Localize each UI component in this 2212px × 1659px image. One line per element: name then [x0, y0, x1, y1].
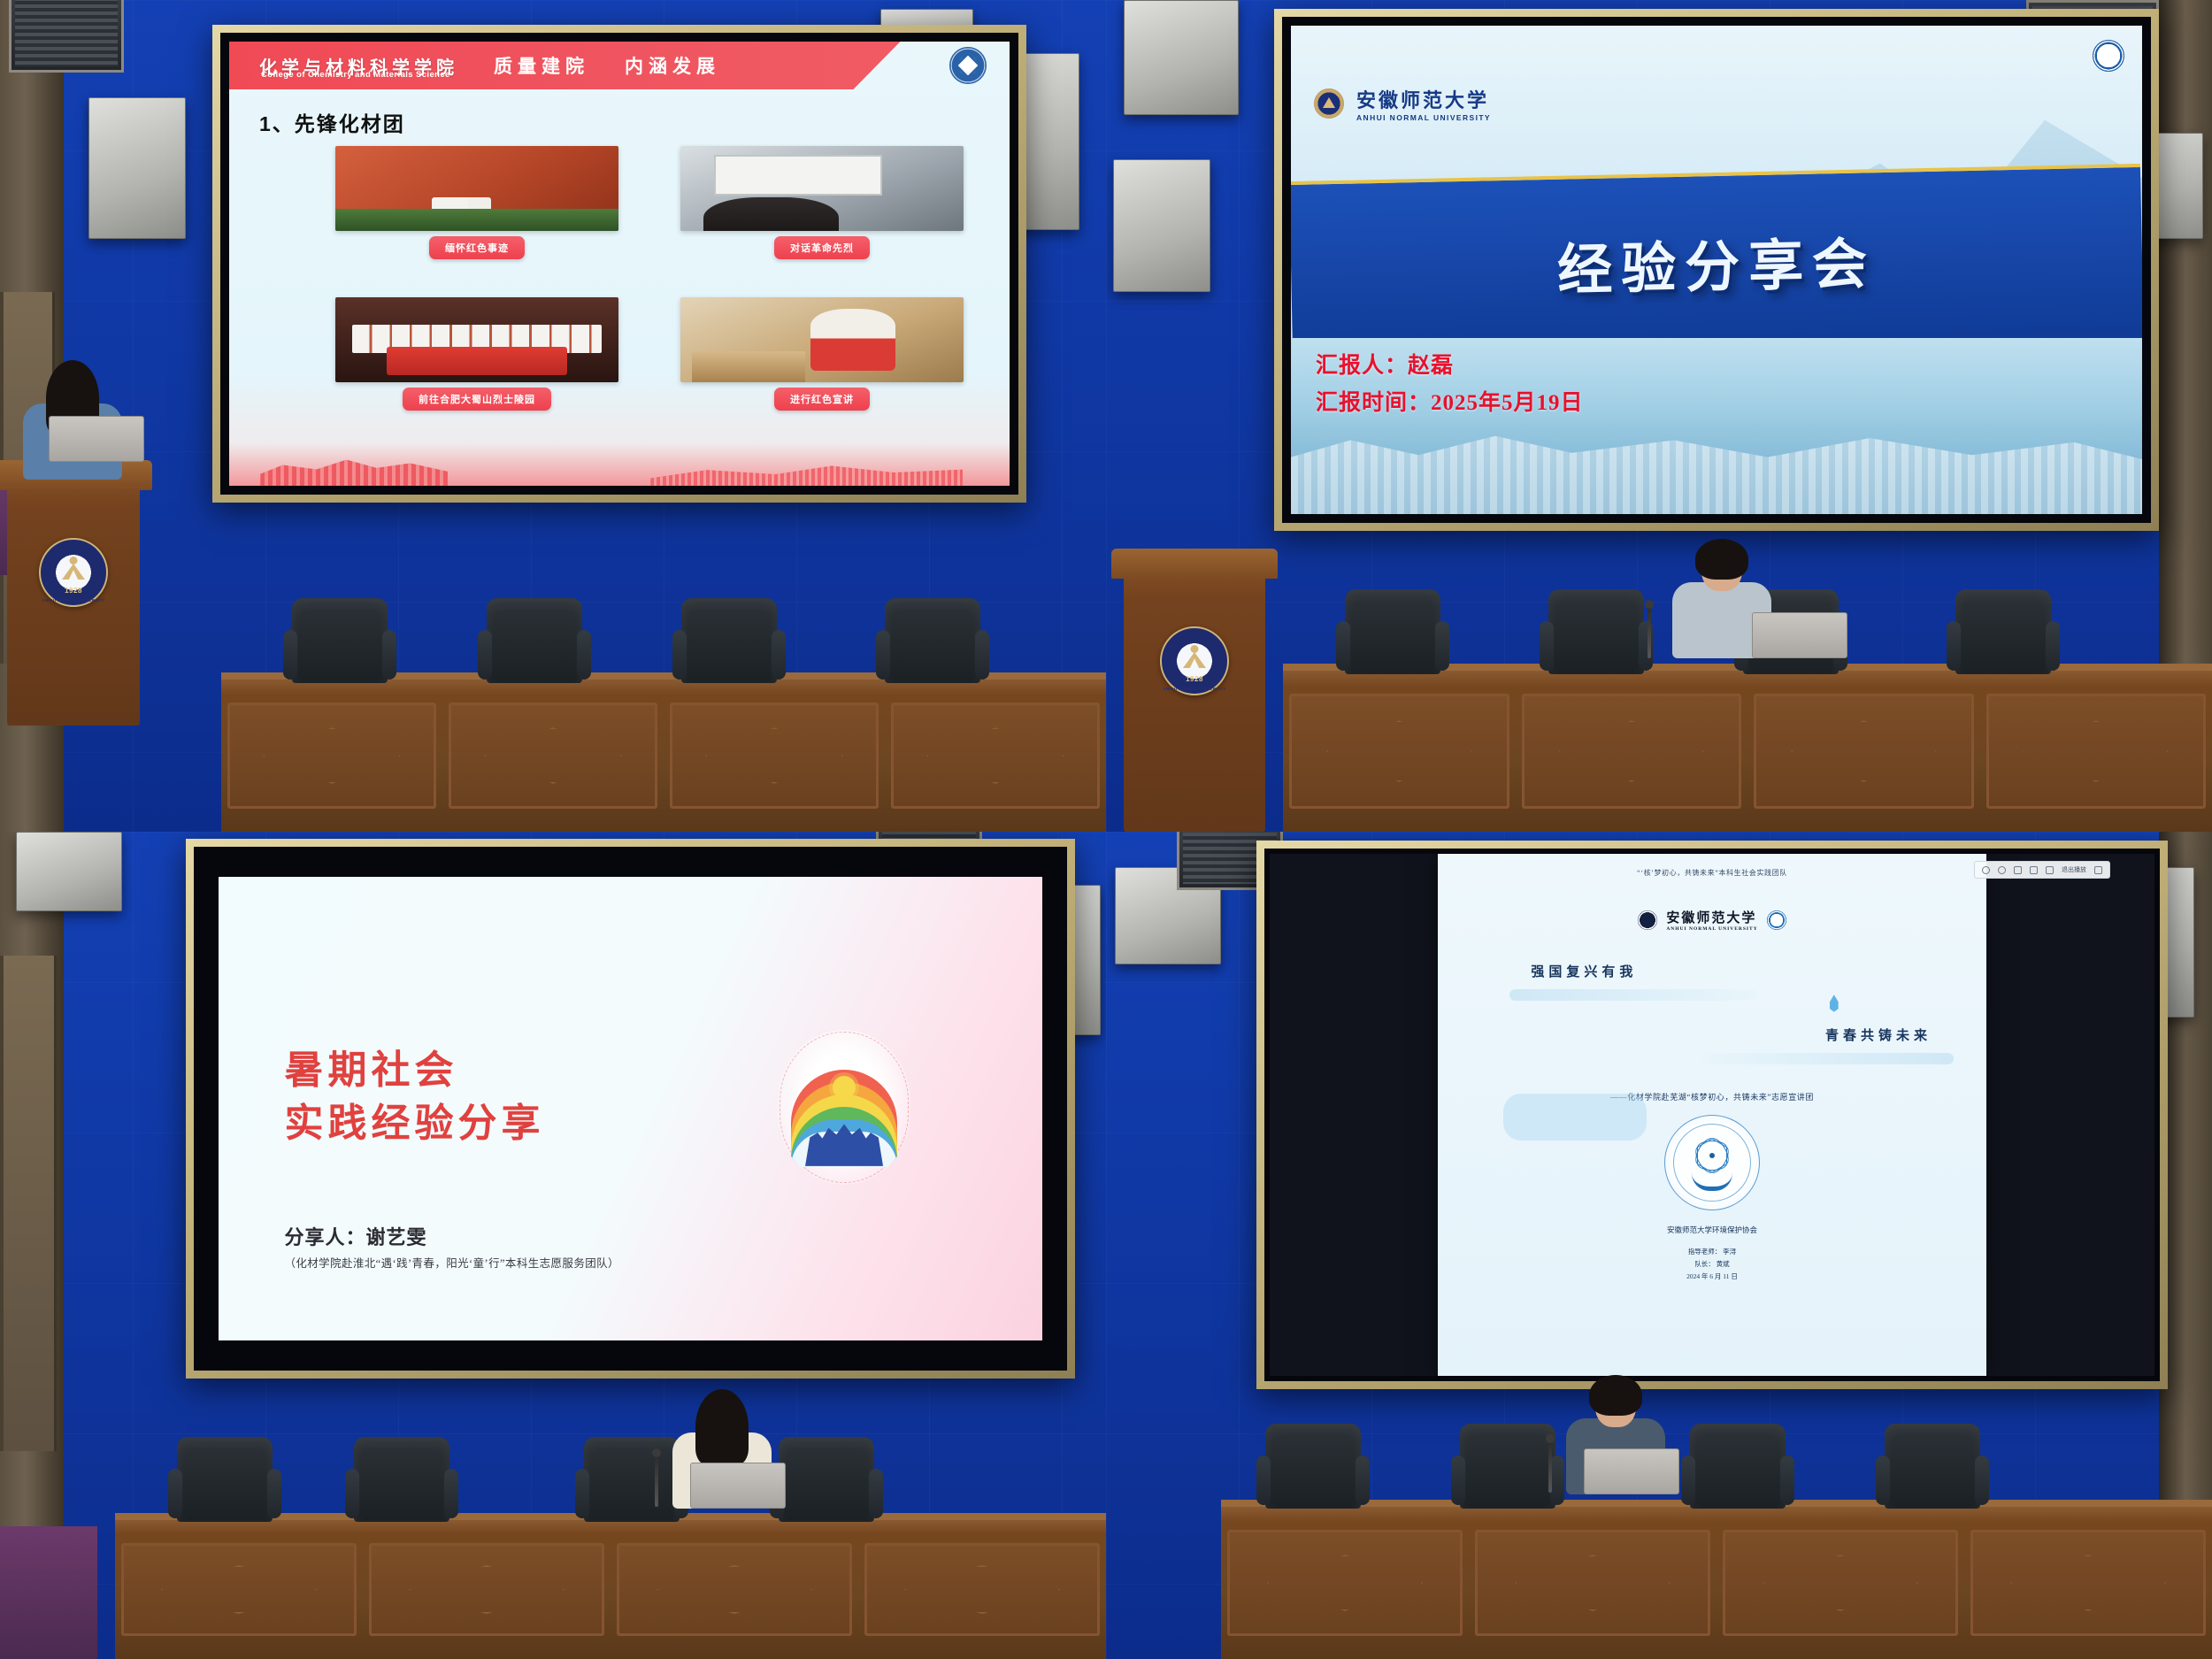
zoom-in-icon[interactable]	[1982, 866, 1990, 874]
rainbow-children-emblem-icon	[778, 1030, 910, 1185]
crest-figure-icon	[1181, 645, 1208, 672]
table-panel	[121, 1543, 357, 1636]
pdf-viewer-toolbar[interactable]: 退出播放	[1974, 861, 2110, 879]
presenter-laptop	[1752, 612, 1847, 658]
conference-table	[1221, 1500, 2212, 1659]
conference-chair	[354, 1437, 449, 1522]
slide3-title-line2: 实践经验分享	[284, 1097, 544, 1151]
table-panel	[1475, 1530, 1710, 1636]
rocket-icon	[1824, 995, 1844, 1014]
slide-4: 退出播放 “‘核’梦初心，共铸未来”本科生社会实践团队 安徽师范大学 ANHUI…	[1270, 854, 2154, 1376]
panel-bottom-right: 退出播放 “‘核’梦初心，共铸未来”本科生社会实践团队 安徽师范大学 ANHUI…	[1106, 832, 2212, 1659]
slide2-university-en: ANHUI NORMAL UNIVERSITY	[1356, 113, 1491, 122]
projection-screen-3: 暑期社会 实践经验分享 分享人：谢艺雯 （化材学院赴淮北“遇‘践’青春，阳光‘童…	[186, 839, 1075, 1379]
conference-chair	[177, 1437, 273, 1522]
presenter-laptop	[49, 416, 144, 462]
college-seal-icon	[2093, 40, 2124, 72]
table-panel	[1227, 1530, 1463, 1636]
university-crest: 1928 ANHUI NORMAL UNIVERSITY	[39, 538, 108, 607]
conference-chair	[1345, 589, 1440, 674]
pdf-team-leader: 队长： 黄斌	[1438, 1258, 1986, 1271]
table-microphone	[1548, 1440, 1552, 1493]
sun-icon	[833, 1076, 856, 1099]
zoom-out-icon[interactable]	[1998, 866, 2006, 874]
fit-page-icon[interactable]	[2014, 866, 2022, 874]
table-panel	[1970, 1530, 2206, 1636]
screen-bezel: 退出播放 “‘核’梦初心，共铸未来”本科生社会实践团队 安徽师范大学 ANHUI…	[1264, 849, 2160, 1381]
close-icon[interactable]	[2094, 866, 2102, 874]
slide1-title: 1、先锋化材团	[259, 107, 405, 137]
red-monument-memorial-photo	[335, 146, 618, 231]
slide3-subtitle: 分享人：谢艺雯 （化材学院赴淮北“遇‘践’青春，阳光‘童’行”本科生志愿服务团队…	[284, 1222, 618, 1271]
wall-speaker-2	[1113, 159, 1210, 292]
pdf-header-text: “‘核’梦初心，共铸未来”本科生社会实践团队	[1438, 868, 1986, 878]
atom-environment-seal-icon	[1664, 1115, 1760, 1210]
slide1-cell: 缅怀红色事迹	[335, 146, 618, 285]
slide1-cell: 前往合肥大蜀山烈士陵园	[335, 297, 618, 436]
table-panel	[369, 1543, 604, 1636]
presenter-laptop	[690, 1463, 786, 1509]
table-panel	[1723, 1530, 1958, 1636]
slide-3: 暑期社会 实践经验分享 分享人：谢艺雯 （化材学院赴淮北“遇‘践’青春，阳光‘童…	[219, 877, 1042, 1340]
slide1-slogan-right: 内涵发展	[625, 52, 720, 79]
crest-ring-text: ANHUI NORMAL UNIVERSITY	[42, 598, 105, 603]
table-panel	[1754, 694, 1974, 809]
table-panel	[1289, 694, 1509, 809]
slide3-title-line1: 暑期社会	[284, 1044, 544, 1098]
crest-figure-icon	[60, 557, 87, 583]
slide1-cell: 对话革命先烈	[680, 146, 964, 285]
panel-top-right: 安徽师范大学 ANHUI NORMAL UNIVERSITY 经验分享会 汇报人…	[1106, 0, 2212, 832]
conference-chair	[1548, 589, 1644, 674]
slide2-date: 汇报时间：2025年5月19日	[1316, 385, 1584, 417]
slide2-meta: 汇报人：赵磊 汇报时间：2025年5月19日	[1316, 348, 1584, 417]
lectern: 1928 ANHUI NORMAL UNIVERSITY	[1124, 549, 1265, 832]
pdf-meta-block: 指导老师： 李浔 队长： 黄斌 2024 年 6 月 11 日	[1438, 1246, 1986, 1283]
slide3-title: 暑期社会 实践经验分享	[284, 1044, 544, 1151]
projection-screen-4: 退出播放 “‘核’梦初心，共铸未来”本科生社会实践团队 安徽师范大学 ANHUI…	[1256, 841, 2168, 1389]
conference-chair	[1690, 1424, 1786, 1509]
slide1-skyline-decor	[229, 443, 1010, 486]
college-emblem-icon	[949, 47, 987, 84]
table-panel	[227, 703, 436, 809]
screen-bezel: 安徽师范大学 ANHUI NORMAL UNIVERSITY 经验分享会 汇报人…	[1282, 17, 2151, 523]
slide1-cell-label: 前往合肥大蜀山烈士陵园	[403, 388, 551, 411]
panel-bottom-left: 暑期社会 实践经验分享 分享人：谢艺雯 （化材学院赴淮北“遇‘践’青春，阳光‘童…	[0, 832, 1106, 1659]
pdf-university-en-text: ANHUI NORMAL UNIVERSITY	[1666, 926, 1757, 932]
slide3-presenter: 分享人：谢艺雯	[284, 1222, 618, 1250]
pdf-logo-row: 安徽师范大学 ANHUI NORMAL UNIVERSITY	[1438, 908, 1986, 932]
slide3-team: （化材学院赴淮北“遇‘践’青春，阳光‘童’行”本科生志愿服务团队）	[284, 1254, 618, 1271]
conference-table	[115, 1513, 1106, 1659]
conference-chair	[1460, 1424, 1555, 1509]
conference-chair	[584, 1437, 680, 1522]
wall-speaker	[88, 97, 186, 239]
pdf-slogan-line2: 青春共铸未来	[1438, 1025, 1932, 1044]
presenter-head	[52, 366, 93, 412]
exit-presentation-label[interactable]: 退出播放	[2062, 865, 2086, 874]
crest-ring-text: ANHUI NORMAL UNIVERSITY	[1163, 687, 1226, 691]
side-door	[0, 956, 57, 1451]
crest-year: 1928	[1186, 675, 1203, 683]
pdf-decor-bar-2	[1701, 1053, 1954, 1064]
floor-strip	[0, 1526, 97, 1659]
screen-bezel: 化学与材料科学学院 质量建院 内涵发展 College of Chemistry…	[220, 33, 1018, 495]
slide2-university-cn: 安徽师范大学	[1356, 85, 1491, 113]
slide1-cell-label: 对话革命先烈	[774, 236, 870, 259]
slide1-cell: 进行红色宣讲	[680, 297, 964, 436]
slide2-main-title: 经验分享会	[1556, 219, 1877, 305]
classroom-interaction-photo	[680, 146, 964, 231]
table-panel	[1986, 694, 2207, 809]
conference-chair	[487, 598, 582, 683]
conference-chair	[1265, 1424, 1361, 1509]
conference-table	[221, 672, 1106, 832]
conference-chair	[779, 1437, 874, 1522]
pdf-organization: 安徽师范大学环境保护协会	[1438, 1225, 1986, 1235]
pdf-document-page: “‘核’梦初心，共铸未来”本科生社会实践团队 安徽师范大学 ANHUI NORM…	[1438, 854, 1986, 1376]
pdf-date: 2024 年 6 月 11 日	[1438, 1271, 1986, 1283]
college-blue-logo-icon	[1767, 910, 1786, 930]
pen-icon[interactable]	[2046, 866, 2054, 874]
slide1-banner: 化学与材料科学学院 质量建院 内涵发展 College of Chemistry…	[229, 42, 901, 89]
pdf-university-cn-text: 安徽师范大学	[1666, 911, 1756, 926]
projection-screen-1: 化学与材料科学学院 质量建院 内涵发展 College of Chemistry…	[212, 25, 1026, 503]
wall-speaker	[16, 832, 122, 911]
slide2-university-block: 安徽师范大学 ANHUI NORMAL UNIVERSITY	[1356, 85, 1491, 122]
slide2-presenter: 汇报人：赵磊	[1316, 348, 1584, 380]
anhui-normal-university-seal-icon	[1314, 88, 1344, 119]
slide1-cell-label: 缅怀红色事迹	[429, 236, 525, 259]
table-microphone	[1647, 605, 1651, 658]
slide1-slogan-left: 质量建院	[494, 52, 589, 79]
slide1-banner-en: College of Chemistry and Materials Scien…	[261, 70, 450, 80]
lecture-activity-photo	[680, 297, 964, 382]
table-microphone	[655, 1454, 658, 1507]
wall-speaker	[1124, 0, 1239, 115]
cloud-decor	[1503, 1094, 1646, 1141]
wave-icon	[1692, 1173, 1732, 1191]
presenter-head	[1595, 1381, 1636, 1427]
screen-bezel: 暑期社会 实践经验分享 分享人：谢艺雯 （化材学院赴淮北“遇‘践’青春，阳光‘童…	[194, 847, 1067, 1371]
panel-top-left: 化学与材料科学学院 质量建院 内涵发展 College of Chemistry…	[0, 0, 1106, 832]
pdf-decor-bar-1	[1509, 989, 1756, 1001]
photo-collage: 化学与材料科学学院 质量建院 内涵发展 College of Chemistry…	[0, 0, 2212, 1659]
conference-chair	[885, 598, 980, 683]
pdf-university-cn: 安徽师范大学 ANHUI NORMAL UNIVERSITY	[1666, 908, 1757, 932]
presenter-laptop	[1584, 1448, 1679, 1494]
conference-table	[1283, 664, 2212, 832]
pdf-advisor: 指导老师： 李浔	[1438, 1246, 1986, 1258]
slide-1: 化学与材料科学学院 质量建院 内涵发展 College of Chemistry…	[229, 42, 1010, 486]
conference-chair	[681, 598, 777, 683]
slide2-title-band: 经验分享会	[1291, 164, 2142, 357]
group-banner-photo	[335, 297, 618, 382]
presenter-head	[702, 1395, 742, 1441]
table-panel	[617, 1543, 852, 1636]
table-panel	[1522, 694, 1742, 809]
pdf-slogan-line1: 强国复兴有我	[1531, 962, 1986, 980]
university-crest: 1928 ANHUI NORMAL UNIVERSITY	[1160, 626, 1229, 695]
conference-chair	[1955, 589, 2051, 674]
crest-year: 1928	[65, 587, 82, 595]
slide1-cell-label: 进行红色宣讲	[774, 388, 870, 411]
presenter-head	[1701, 545, 1742, 591]
anhui-normal-university-logo-icon	[1638, 910, 1657, 930]
projection-screen-2: 安徽师范大学 ANHUI NORMAL UNIVERSITY 经验分享会 汇报人…	[1274, 9, 2159, 531]
fit-width-icon[interactable]	[2030, 866, 2038, 874]
table-panel	[891, 703, 1100, 809]
ceiling-vent	[9, 0, 124, 73]
slide1-photo-grid: 缅怀红色事迹 对话革命先烈 前往合肥大蜀山烈士陵园 进行红色宣讲	[335, 146, 964, 436]
table-panel	[670, 703, 879, 809]
lectern: 1928 ANHUI NORMAL UNIVERSITY	[7, 460, 140, 726]
atom-icon	[1697, 1141, 1727, 1171]
lectern-top	[1111, 549, 1278, 579]
table-panel	[864, 1543, 1100, 1636]
conference-chair	[1885, 1424, 1980, 1509]
conference-chair	[292, 598, 388, 683]
table-panel	[449, 703, 657, 809]
slide-2: 安徽师范大学 ANHUI NORMAL UNIVERSITY 经验分享会 汇报人…	[1291, 26, 2142, 514]
